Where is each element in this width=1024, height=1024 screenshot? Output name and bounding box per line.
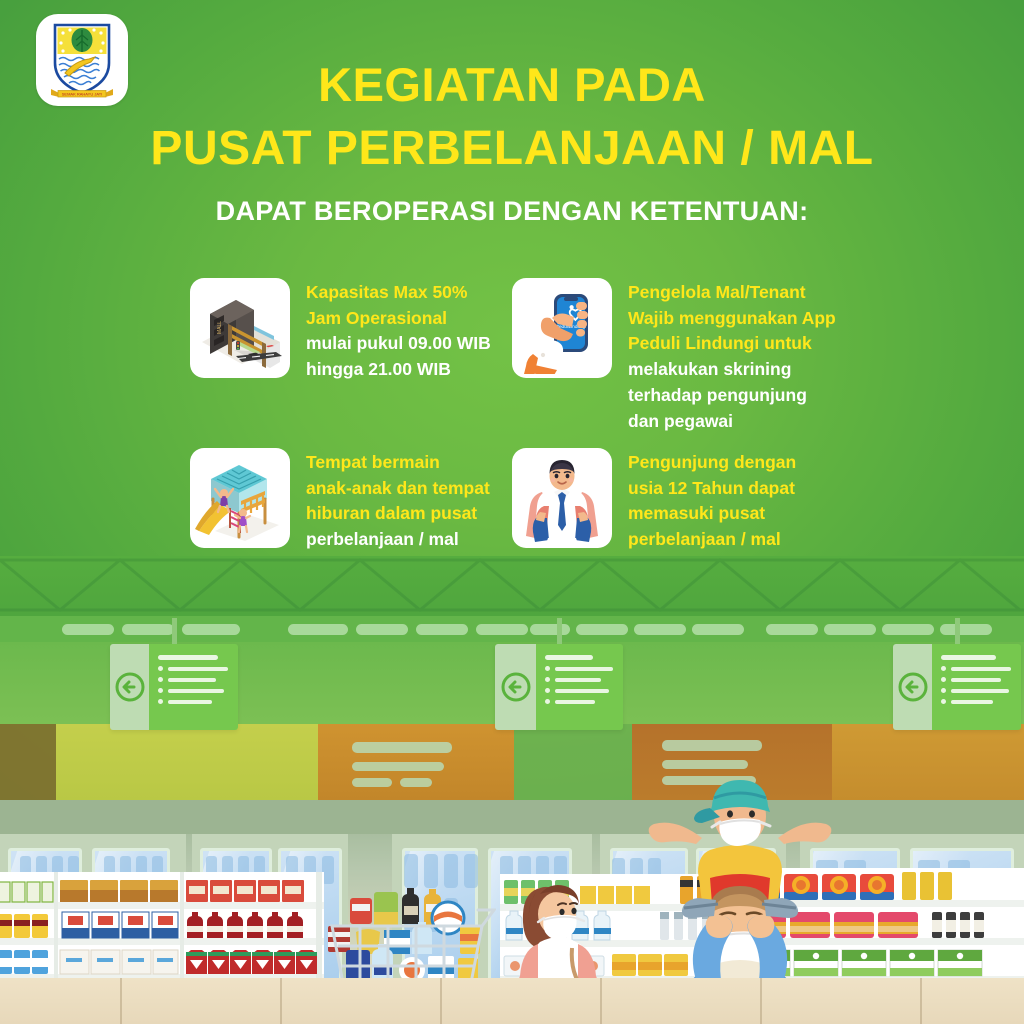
ceiling-light	[356, 624, 408, 635]
icon-card-mall: MALL	[190, 278, 290, 378]
hl-line: usia 12 Tahun dapat	[628, 476, 806, 502]
left-arrow-icon	[501, 672, 531, 702]
sign-rod	[955, 618, 960, 644]
point-item-capacity: MALL Kapasitas Max 50% Jam Operasional m…	[190, 278, 491, 383]
ceiling-light	[882, 624, 934, 635]
title-line-1: KEGIATAN PADA	[0, 54, 1024, 117]
page-title: KEGIATAN PADA PUSAT PERBELANJAAN / MAL	[0, 54, 1024, 180]
ceiling-light	[122, 624, 174, 635]
wall-panel	[832, 724, 1024, 800]
ceiling-light	[288, 624, 348, 635]
heading-block: KEGIATAN PADA PUSAT PERBELANJAAN / MAL D…	[0, 54, 1024, 227]
mall-building-icon: MALL	[196, 284, 284, 372]
svg-text:MALL: MALL	[217, 321, 223, 334]
hand-holding-phone-icon: PeduliLindungi	[516, 282, 608, 374]
supermarket-scene	[0, 556, 1024, 1024]
point-text-capacity: Kapasitas Max 50% Jam Operasional mulai …	[306, 278, 491, 383]
hl-line: memasuki pusat	[628, 501, 806, 527]
ceiling-light	[692, 624, 744, 635]
title-line-2: PUSAT PERBELANJAAN / MAL	[0, 117, 1024, 181]
store-foreground	[0, 834, 1024, 1024]
point-item-app: PeduliLindungi Pengelola Mal/	[512, 278, 836, 434]
hl-line: Peduli Lindungi untuk	[628, 331, 836, 357]
aisle-sign[interactable]	[893, 644, 1021, 730]
wall-panel	[318, 724, 514, 800]
ceiling-truss	[0, 556, 1024, 616]
hl-line: Wajib menggunakan App	[628, 306, 836, 332]
sign-rod	[557, 618, 562, 644]
body-line: melakukan skrining	[628, 357, 836, 383]
sign-lines	[149, 644, 238, 730]
child-with-mask-and-cap	[649, 780, 832, 904]
ceiling-light	[530, 624, 570, 635]
ceiling-light	[576, 624, 628, 635]
student-with-backpack-icon	[518, 452, 606, 544]
floor-seam	[920, 978, 922, 1024]
hl-line: Kapasitas Max 50%	[306, 280, 491, 306]
ceiling-light	[476, 624, 528, 635]
floor-seam	[280, 978, 282, 1024]
floor-seam	[440, 978, 442, 1024]
ceiling-light	[62, 624, 114, 635]
store-floor	[0, 978, 1024, 1024]
sign-lines	[536, 644, 623, 730]
page-subtitle: DAPAT BEROPERASI DENGAN KETENTUAN:	[0, 196, 1024, 227]
aisle-sign[interactable]	[495, 644, 623, 730]
hl-line: Jam Operasional	[306, 306, 491, 332]
ceiling-light	[766, 624, 818, 635]
sign-arrow-box	[893, 644, 932, 730]
icon-card-playground	[190, 448, 290, 548]
ceiling-light	[824, 624, 876, 635]
body-line: perbelanjaan / mal	[306, 527, 490, 553]
wall-panels	[0, 724, 1024, 800]
body-line: terhadap pengunjung	[628, 383, 836, 409]
aisle-sign[interactable]	[110, 644, 238, 730]
wall-panel	[56, 724, 318, 800]
icon-card-phone: PeduliLindungi	[512, 278, 612, 378]
man-shopper-with-mask	[640, 674, 840, 1024]
ceiling-light	[182, 624, 240, 635]
ceiling-light	[416, 624, 468, 635]
wall-panel	[0, 724, 56, 800]
hl-line: Tempat bermain	[306, 450, 490, 476]
floor-seam	[760, 978, 762, 1024]
left-arrow-icon	[898, 672, 928, 702]
wall-panel	[514, 724, 632, 800]
sign-rod	[172, 618, 177, 644]
sign-arrow-box	[495, 644, 536, 730]
body-line: hingga 21.00 WIB	[306, 357, 491, 383]
icon-card-student	[512, 448, 612, 548]
floor-seam	[120, 978, 122, 1024]
floor-seam	[600, 978, 602, 1024]
hl-line: Pengunjung dengan	[628, 450, 806, 476]
sign-lines	[932, 644, 1021, 730]
infographic-poster: SEMAK RAHAYU JATI KEGIATAN PADA PUSAT PE…	[0, 0, 1024, 1024]
body-line: mulai pukul 09.00 WIB	[306, 331, 491, 357]
point-text-app: Pengelola Mal/Tenant Wajib menggunakan A…	[628, 278, 836, 434]
body-line: dan pegawai	[628, 409, 836, 435]
sign-arrow-box	[110, 644, 149, 730]
hl-line: hiburan dalam pusat	[306, 501, 490, 527]
playground-icon	[195, 453, 285, 543]
ceiling-light	[634, 624, 686, 635]
mid-floor-band	[0, 800, 1024, 834]
hl-line: Pengelola Mal/Tenant	[628, 280, 836, 306]
hl-line: perbelanjaan / mal	[628, 527, 806, 553]
left-arrow-icon	[115, 672, 145, 702]
hl-line: anak-anak dan tempat	[306, 476, 490, 502]
ceiling-light	[940, 624, 992, 635]
